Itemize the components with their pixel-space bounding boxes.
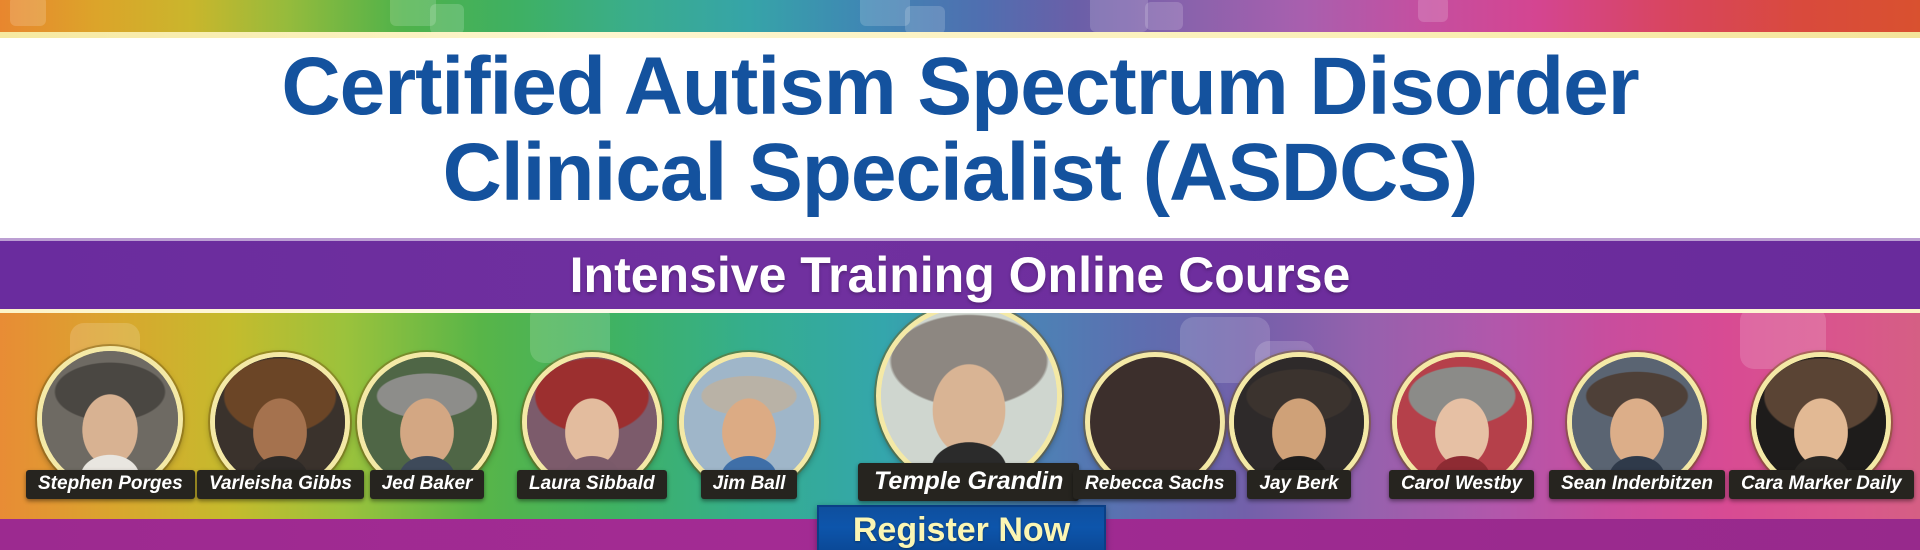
speaker-card[interactable]: Sean Inderbitzen: [1549, 352, 1725, 499]
puzzle-piece-decoration: [1090, 0, 1148, 32]
subtitle-band: Intensive Training Online Course: [0, 238, 1920, 312]
speaker-portrait: [362, 357, 492, 487]
speaker-name-label: Stephen Porges: [26, 470, 195, 499]
top-rainbow-strip: [0, 0, 1920, 32]
speaker-card[interactable]: Jed Baker: [357, 352, 497, 499]
page-title-line2: Clinical Specialist (ASDCS): [443, 128, 1478, 218]
speakers-strip: Stephen PorgesVarleisha GibbsJed BakerLa…: [0, 313, 1920, 519]
register-now-button[interactable]: Register Now: [817, 505, 1106, 550]
speaker-name-label: Cara Marker Daily: [1729, 470, 1914, 499]
speaker-card[interactable]: Rebecca Sachs: [1073, 352, 1236, 499]
puzzle-piece-decoration: [1418, 0, 1448, 22]
speaker-name-label: Jed Baker: [370, 470, 485, 499]
speaker-portrait: [42, 351, 178, 487]
page-title-line1: Certified Autism Spectrum Disorder: [281, 42, 1638, 132]
subtitle-text: Intensive Training Online Course: [570, 249, 1351, 301]
speaker-portrait: [215, 357, 345, 487]
speaker-card[interactable]: Jim Ball: [679, 352, 819, 499]
band-top-edge: [0, 238, 1920, 241]
speaker-portrait: [1234, 357, 1364, 487]
speakers-row: Stephen PorgesVarleisha GibbsJed BakerLa…: [0, 313, 1920, 519]
speaker-portrait: [684, 357, 814, 487]
speaker-name-label: Varleisha Gibbs: [197, 470, 364, 499]
speaker-portrait: [1397, 357, 1527, 487]
speaker-name-label: Rebecca Sachs: [1073, 470, 1236, 499]
speaker-name-label: Carol Westby: [1389, 470, 1534, 499]
speaker-portrait: [1090, 357, 1220, 487]
speaker-name-label: Laura Sibbald: [517, 470, 667, 499]
puzzle-piece-decoration: [10, 0, 46, 26]
puzzle-piece-decoration: [860, 0, 910, 26]
puzzle-piece-decoration: [1145, 2, 1183, 30]
register-now-label: Register Now: [853, 512, 1070, 548]
speaker-card[interactable]: Cara Marker Daily: [1729, 352, 1914, 499]
speaker-portrait: [527, 357, 657, 487]
speaker-name-label: Temple Grandin: [858, 463, 1079, 501]
asdcs-promo-banner: Certified Autism Spectrum Disorder Clini…: [0, 0, 1920, 550]
speaker-portrait: [1756, 357, 1886, 487]
speaker-portrait: [1572, 357, 1702, 487]
speaker-card[interactable]: Jay Berk: [1229, 352, 1369, 499]
speaker-name-label: Sean Inderbitzen: [1549, 470, 1725, 499]
speaker-name-label: Jim Ball: [701, 470, 798, 499]
speaker-portrait: [881, 313, 1057, 484]
speaker-card[interactable]: Carol Westby: [1389, 352, 1534, 499]
speaker-name-label: Jay Berk: [1247, 470, 1350, 499]
puzzle-piece-decoration: [905, 6, 945, 34]
puzzle-piece-decoration: [430, 4, 464, 34]
speaker-card[interactable]: Temple Grandin: [858, 313, 1079, 501]
title-area: Certified Autism Spectrum Disorder Clini…: [0, 38, 1920, 238]
speaker-card[interactable]: Stephen Porges: [26, 346, 195, 499]
speaker-card[interactable]: Laura Sibbald: [517, 352, 667, 499]
speaker-card[interactable]: Varleisha Gibbs: [197, 352, 364, 499]
